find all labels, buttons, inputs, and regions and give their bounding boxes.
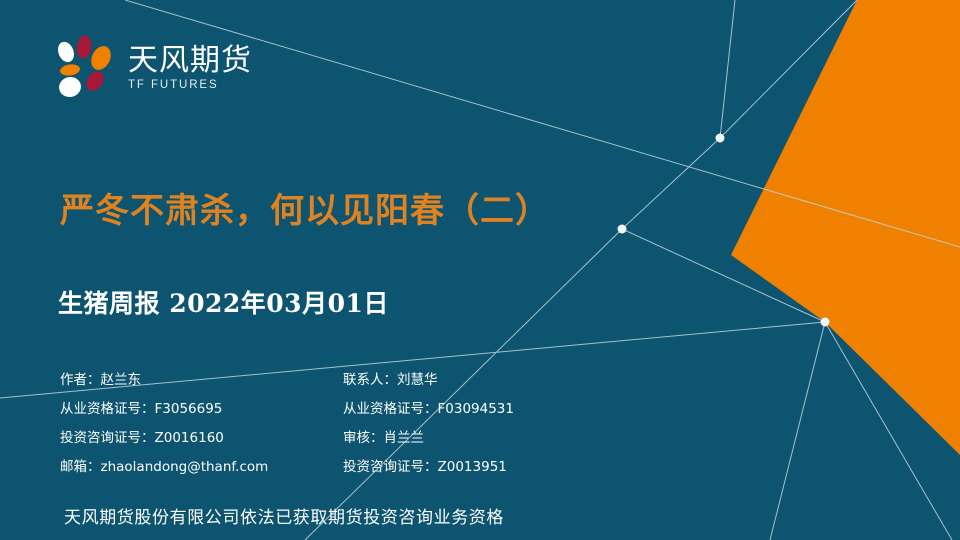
decor-line [770, 322, 825, 540]
contact-block: 作者：赵兰东 从业资格证号：F3056695 投资咨询证号：Z0016160 邮… [60, 366, 620, 482]
qualification-disclaimer: 天风期货股份有限公司依法已获取期货投资咨询业务资格 [64, 503, 504, 528]
contact-line: 审核：肖兰兰 [343, 424, 514, 453]
report-subtitle: 生猪周报 2022年03月01日 [58, 284, 389, 320]
contact-line: 从业资格证号：F3056695 [60, 395, 343, 424]
decor-node-group [618, 134, 830, 327]
contact-line: 邮箱：zhaolandong@thanf.com [60, 453, 343, 482]
decor-node [821, 318, 830, 327]
decor-node [716, 134, 725, 143]
orange-polygon-accent [731, 0, 960, 455]
decor-line [622, 229, 825, 322]
contact-line: 联系人：刘慧华 [343, 366, 514, 395]
page-title: 严冬不肃杀，何以见阳春（二） [60, 183, 550, 232]
title-slide: 天风期货 TF FUTURES 严冬不肃杀，何以见阳春（二） 生猪周报 2022… [0, 0, 960, 540]
decor-line [720, 0, 735, 138]
logo-name-cn: 天风期货 [128, 45, 252, 76]
decor-line [720, 0, 857, 138]
contact-line: 投资咨询证号：Z0013951 [343, 453, 514, 482]
author-column: 作者：赵兰东 从业资格证号：F3056695 投资咨询证号：Z0016160 邮… [60, 366, 343, 482]
contact-line: 投资咨询证号：Z0016160 [60, 424, 343, 453]
contact-line: 作者：赵兰东 [60, 366, 343, 395]
brand-logo: 天风期货 TF FUTURES [52, 34, 252, 100]
logo-name-en: TF FUTURES [128, 79, 252, 91]
contact-person-column: 联系人：刘慧华 从业资格证号：F03094531 审核：肖兰兰 投资咨询证号：Z… [343, 366, 514, 482]
decor-line [622, 138, 720, 229]
flower-petals-icon [52, 34, 114, 100]
decor-node [618, 225, 627, 234]
decor-line [825, 322, 952, 540]
logo-wordmark: 天风期货 TF FUTURES [128, 43, 252, 91]
contact-line: 从业资格证号：F03094531 [343, 395, 514, 424]
